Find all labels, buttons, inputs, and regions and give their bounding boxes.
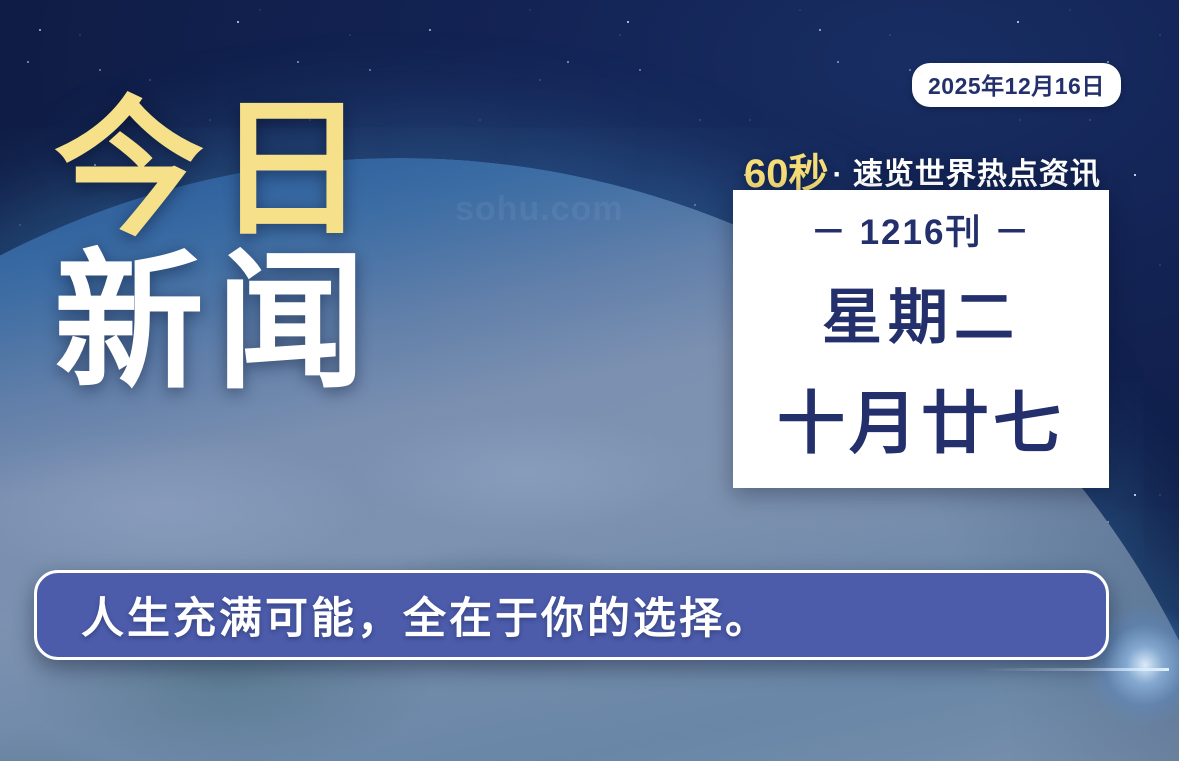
watermark-text: sohu.com — [455, 190, 624, 229]
date-badge: 2025年12月16日 — [912, 63, 1121, 107]
weekday-label: 星期二 — [822, 269, 1020, 356]
poster-title: 今日 新闻 — [54, 96, 378, 396]
news-poster: sohu.com 今日 新闻 2025年12月16日 60秒· 速览世界热点资讯… — [0, 0, 1179, 761]
quote-bar: 人生充满可能，全在于你的选择。 — [34, 570, 1109, 660]
quote-text: 人生充满可能，全在于你的选择。 — [81, 584, 771, 646]
issue-number: － 1216刊 － — [811, 204, 1031, 255]
title-line-news: 新闻 — [54, 249, 378, 396]
date-info-card: － 1216刊 － 星期二 十月廿七 — [733, 190, 1109, 488]
tagline-rest: · 速览世界热点资讯 — [833, 158, 1101, 191]
lunar-date-label: 十月廿七 — [777, 368, 1065, 467]
title-line-today: 今日 — [54, 96, 378, 243]
